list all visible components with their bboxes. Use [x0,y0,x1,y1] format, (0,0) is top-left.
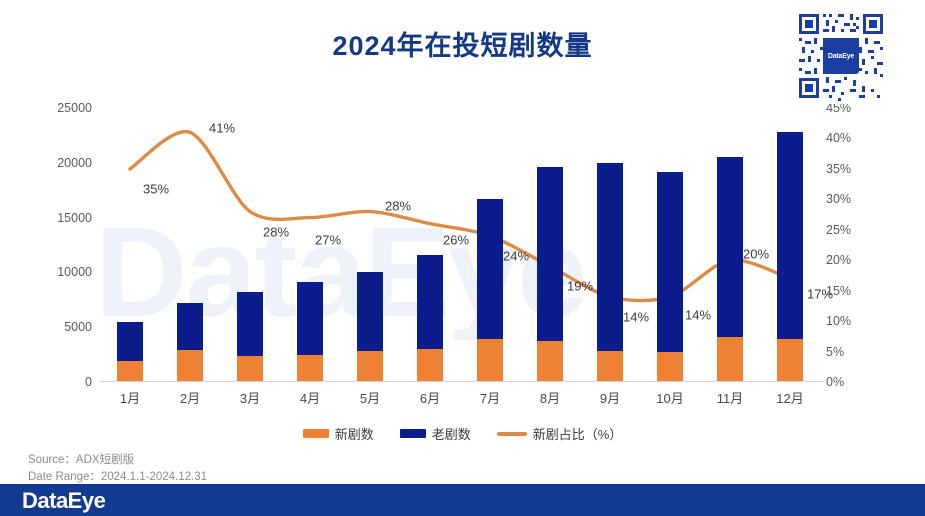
bar-column[interactable] [177,303,203,382]
bar-column[interactable] [657,172,683,382]
y-tick-right: 20% [826,253,851,267]
line-point-label: 26% [443,232,469,247]
line-point-label: 24% [503,248,529,263]
bar-segment-old[interactable] [717,157,743,337]
legend-item[interactable]: 新剧占比（%） [497,424,623,443]
bar-segment-old[interactable] [357,272,383,350]
y-tick-right: 15% [826,284,851,298]
bar-segment-new[interactable] [417,349,443,382]
legend-swatch-icon [400,429,426,438]
y-tick-right: 35% [826,162,851,176]
footer-notes: Source：ADX短剧版 Date Range：2024.1.1-2024.1… [28,452,207,486]
x-axis-label: 5月 [360,388,380,407]
brand-name: DataEye [22,488,105,514]
bar-segment-old[interactable] [477,199,503,339]
y-tick-right: 30% [826,192,851,206]
bar-segment-old[interactable] [537,167,563,341]
bar-segment-old[interactable] [297,282,323,354]
bar-segment-new[interactable] [117,361,143,382]
x-axis-label: 1月 [120,388,140,407]
legend-line-icon [497,432,527,436]
x-axis-label: 8月 [540,388,560,407]
y-tick-left: 15000 [57,211,92,225]
legend-label: 老剧数 [432,424,471,443]
bar-column[interactable] [117,322,143,382]
y-axis-right: 45%40%35%30%25%20%15%10%5%0% [826,108,886,382]
legend-label: 新剧占比（%） [533,424,623,443]
bar-segment-new[interactable] [297,355,323,382]
y-tick-left: 10000 [57,265,92,279]
y-tick-right: 5% [826,345,844,359]
x-axis-label: 7月 [480,388,500,407]
line-point-label: 27% [315,232,341,247]
bar-column[interactable] [417,255,443,382]
line-point-label: 28% [263,224,289,239]
x-axis-label: 9月 [600,388,620,407]
x-axis-line [100,381,824,382]
x-axis-label: 12月 [776,388,803,407]
bar-column[interactable] [477,199,503,382]
bar-column[interactable] [357,272,383,382]
y-tick-left: 25000 [57,101,92,115]
x-axis-label: 10月 [656,388,683,407]
x-axis-label: 11月 [717,388,744,407]
y-tick-left: 20000 [57,156,92,170]
ratio-line-path [130,132,790,301]
legend-item[interactable]: 新剧数 [303,424,374,443]
qr-center-label: DataEye [828,53,854,60]
bar-segment-new[interactable] [237,356,263,382]
chart-legend: 新剧数老剧数新剧占比（%） [0,424,925,443]
bar-segment-old[interactable] [777,132,803,339]
x-axis-label: 6月 [420,388,440,407]
bar-segment-new[interactable] [357,351,383,382]
bar-segment-old[interactable] [117,322,143,361]
legend-label: 新剧数 [335,424,374,443]
bar-column[interactable] [537,167,563,382]
brand-bar: DataEye [0,484,925,516]
line-point-label: 35% [143,181,169,196]
x-axis-label: 3月 [240,388,260,407]
y-axis-left: 2500020000150001000050000 [40,108,92,382]
line-point-label: 20% [743,247,769,262]
y-tick-right: 25% [826,223,851,237]
y-tick-left: 5000 [64,320,92,334]
bar-segment-new[interactable] [777,339,803,382]
x-axis-label: 4月 [300,388,320,407]
legend-item[interactable]: 老剧数 [400,424,471,443]
bar-segment-old[interactable] [597,163,623,352]
chart-plot-area: 35%41%28%27%28%26%24%19%14%14%20%17% [100,108,820,382]
bar-column[interactable] [717,157,743,382]
bar-segment-old[interactable] [237,292,263,356]
bar-segment-new[interactable] [177,350,203,382]
page-title: 2024年在投短剧数量 [0,24,925,63]
x-axis-label: 2月 [180,388,200,407]
bar-segment-old[interactable] [417,255,443,349]
x-axis-labels: 1月2月3月4月5月6月7月8月9月10月11月12月 [100,388,820,410]
bar-segment-new[interactable] [717,337,743,382]
bar-segment-new[interactable] [597,351,623,382]
qr-code[interactable]: DataEye [793,8,889,104]
bar-segment-new[interactable] [537,341,563,382]
line-point-label: 41% [209,121,235,136]
line-point-label: 19% [567,279,593,294]
footer-source: Source：ADX短剧版 [28,452,207,469]
qr-center-logo: DataEye [823,38,859,74]
bar-segment-old[interactable] [177,303,203,350]
legend-swatch-icon [303,429,329,438]
line-point-label: 14% [685,307,711,322]
y-tick-right: 0% [826,375,844,389]
bar-column[interactable] [777,132,803,382]
bar-column[interactable] [597,163,623,382]
y-tick-right: 10% [826,314,851,328]
bar-column[interactable] [297,282,323,382]
bar-segment-new[interactable] [477,339,503,382]
line-point-label: 14% [623,309,649,324]
y-tick-right: 40% [826,131,851,145]
bar-segment-old[interactable] [657,172,683,353]
bar-segment-new[interactable] [657,352,683,382]
line-point-label: 28% [385,198,411,213]
y-tick-left: 0 [85,375,92,389]
bar-column[interactable] [237,292,263,382]
